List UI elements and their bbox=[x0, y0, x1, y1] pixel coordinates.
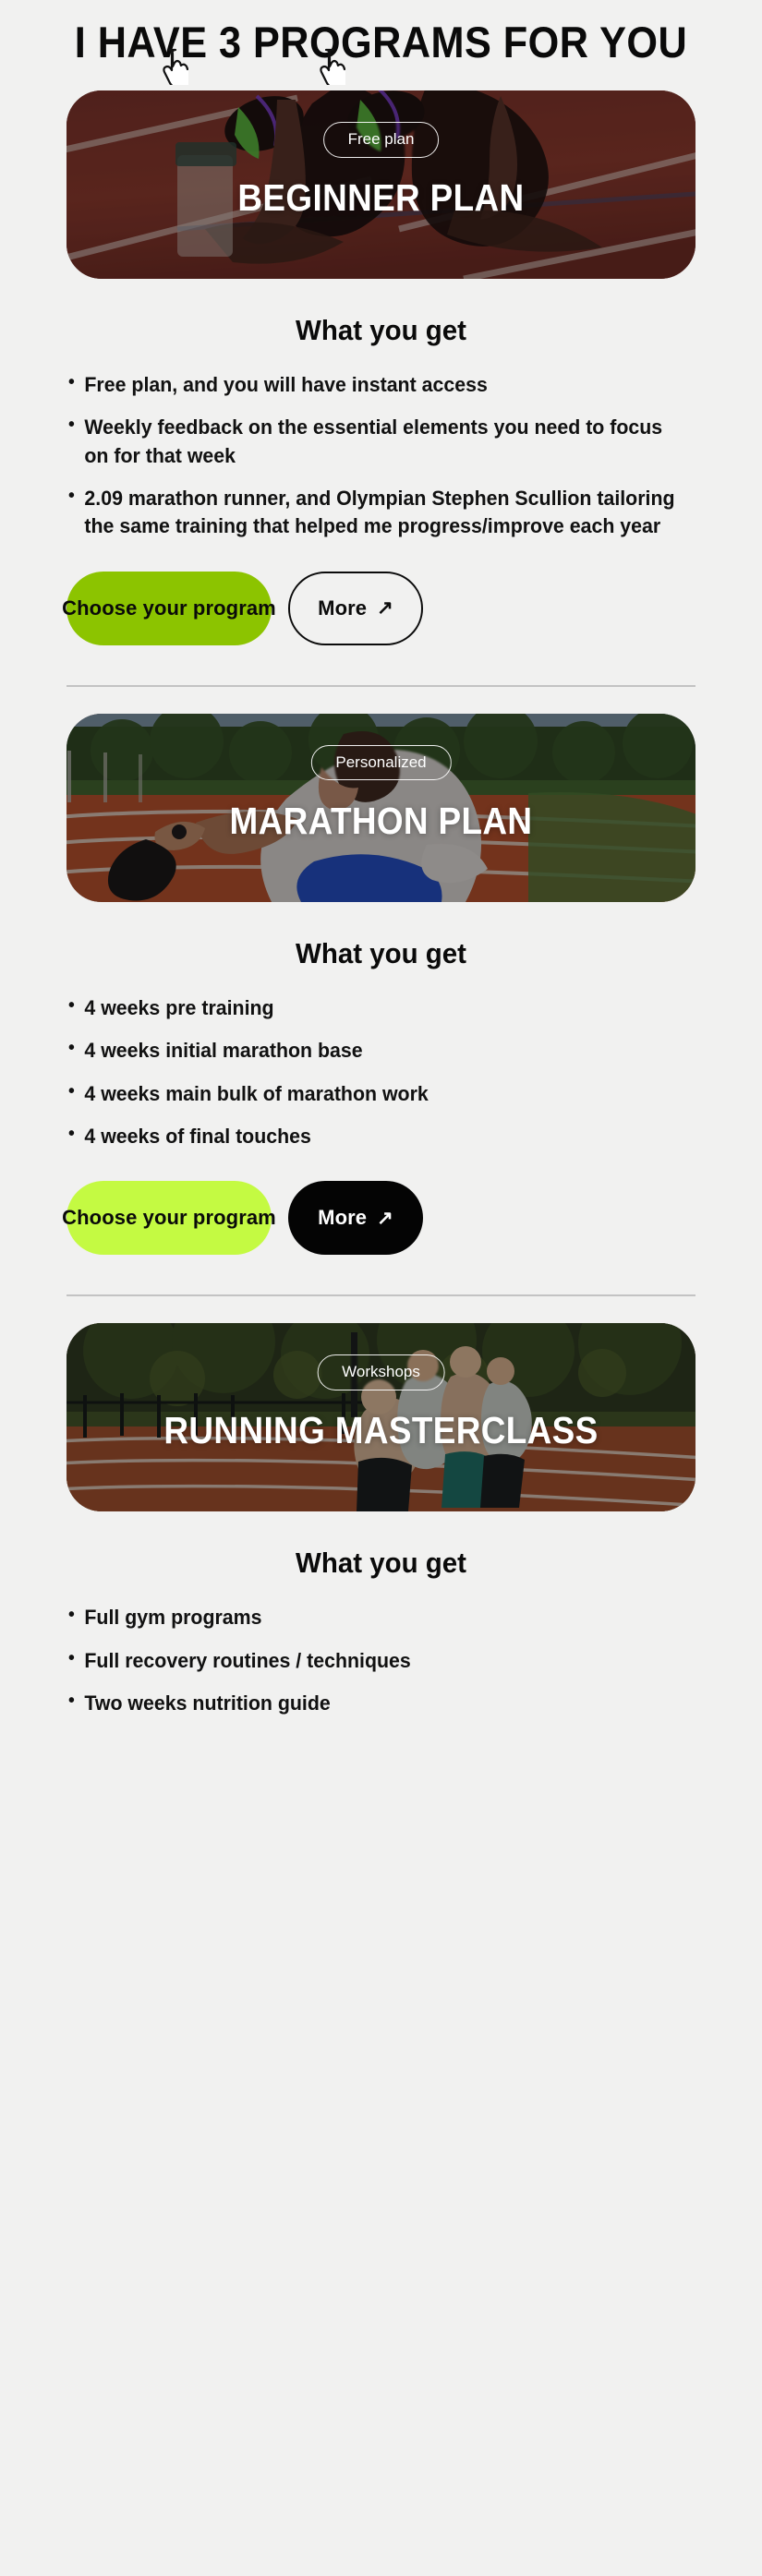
list-item: 4 weeks of final touches bbox=[67, 1123, 677, 1150]
program-card-masterclass: Workshops RUNNING MASTERCLASS What you g… bbox=[0, 1323, 762, 1717]
more-button[interactable]: More ↗ bbox=[288, 572, 423, 645]
section-divider bbox=[67, 1294, 695, 1296]
card-hero-title: MARATHON PLAN bbox=[98, 802, 664, 840]
card-hero-image-marathon: Personalized MARATHON PLAN bbox=[67, 714, 695, 902]
what-you-get-heading: What you get bbox=[82, 937, 680, 970]
page-title: I HAVE 3 PROGRAMS FOR YOU bbox=[30, 0, 732, 64]
more-button-label: More bbox=[318, 1206, 367, 1230]
card-badge: Workshops bbox=[317, 1354, 445, 1390]
program-card-marathon: Personalized MARATHON PLAN What you get … bbox=[0, 714, 762, 1255]
arrow-up-right-icon: ↗ bbox=[377, 1209, 393, 1228]
section-divider bbox=[67, 685, 695, 687]
card-hero-image-masterclass: Workshops RUNNING MASTERCLASS bbox=[67, 1323, 695, 1511]
card-hero-image-beginner: Free plan BEGINNER PLAN bbox=[67, 90, 695, 279]
list-item: Free plan, and you will have instant acc… bbox=[67, 371, 677, 399]
list-item: 4 weeks pre training bbox=[67, 994, 677, 1022]
benefits-list: Free plan, and you will have instant acc… bbox=[67, 371, 695, 541]
list-item: Weekly feedback on the essential element… bbox=[67, 414, 677, 470]
programs-page: I HAVE 3 PROGRAMS FOR YOU bbox=[0, 0, 762, 1747]
more-button[interactable]: More ↗ bbox=[288, 1181, 423, 1255]
choose-your-program-button[interactable]: Choose your program bbox=[67, 572, 272, 645]
list-item: 2.09 marathon runner, and Olympian Steph… bbox=[67, 485, 677, 541]
list-item: Full gym programs bbox=[67, 1604, 677, 1631]
benefits-list: 4 weeks pre training 4 weeks initial mar… bbox=[67, 994, 695, 1150]
card-badge: Free plan bbox=[323, 122, 440, 158]
list-item: 4 weeks main bulk of marathon work bbox=[67, 1080, 677, 1108]
choose-your-program-button[interactable]: Choose your program bbox=[67, 1181, 272, 1255]
list-item: Full recovery routines / techniques bbox=[67, 1647, 677, 1675]
more-button-label: More bbox=[318, 596, 367, 620]
what-you-get-heading: What you get bbox=[82, 1547, 680, 1580]
what-you-get-heading: What you get bbox=[82, 314, 680, 347]
bottom-spacer bbox=[0, 1717, 762, 1747]
list-item: 4 weeks initial marathon base bbox=[67, 1037, 677, 1065]
benefits-list: Full gym programs Full recovery routines… bbox=[67, 1604, 695, 1717]
card-actions: Choose your program More ↗ bbox=[67, 1181, 695, 1255]
card-hero-title: BEGINNER PLAN bbox=[98, 179, 664, 217]
card-hero-title: RUNNING MASTERCLASS bbox=[98, 1412, 664, 1450]
program-card-beginner: Free plan BEGINNER PLAN What you get Fre… bbox=[0, 90, 762, 645]
card-badge: Personalized bbox=[310, 745, 451, 781]
card-actions: Choose your program More ↗ bbox=[67, 572, 695, 645]
arrow-up-right-icon: ↗ bbox=[377, 598, 393, 618]
list-item: Two weeks nutrition guide bbox=[67, 1690, 677, 1717]
